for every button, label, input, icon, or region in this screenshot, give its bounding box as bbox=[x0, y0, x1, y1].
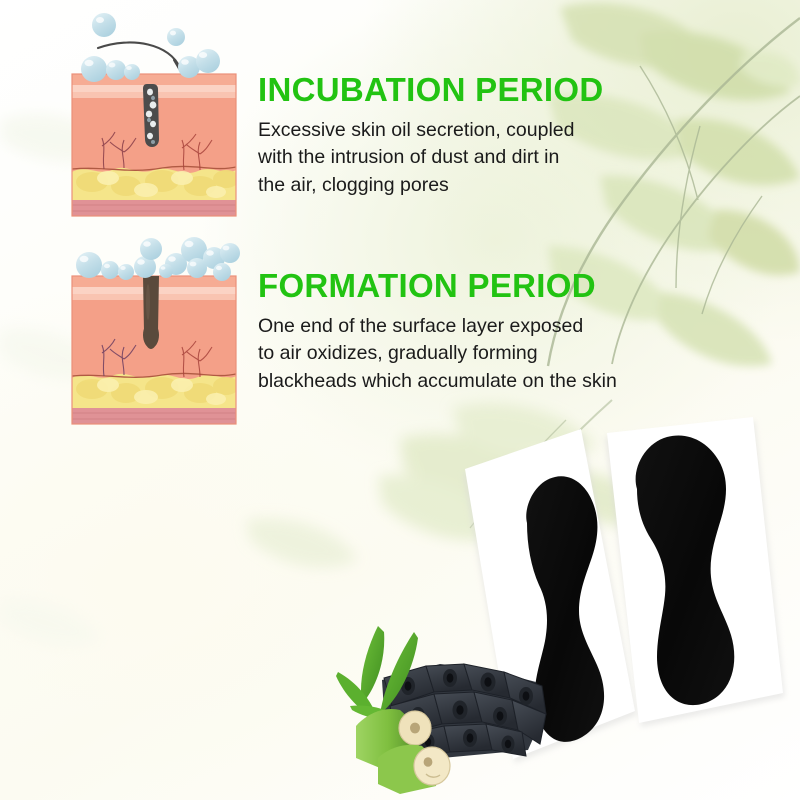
heading-formation: FORMATION PERIOD bbox=[258, 268, 698, 304]
body-incubation: Excessive skin oil secretion, coupled wi… bbox=[258, 117, 678, 200]
skin-diagram-incubation bbox=[58, 6, 248, 221]
body-line: with the intrusion of dust and dirt in bbox=[258, 144, 678, 172]
clogged-pore-1 bbox=[143, 84, 159, 147]
body-line: blackheads which accumulate on the skin bbox=[258, 368, 698, 396]
section-formation-text: FORMATION PERIOD One end of the surface … bbox=[258, 268, 698, 396]
bamboo-charcoal-ingredient-photo bbox=[322, 618, 567, 803]
infographic-canvas: INCUBATION PERIOD Excessive skin oil sec… bbox=[0, 0, 800, 800]
body-formation: One end of the surface layer exposed to … bbox=[258, 313, 698, 396]
body-line: the air, clogging pores bbox=[258, 172, 678, 200]
bubbles-2 bbox=[76, 237, 240, 281]
body-line: Excessive skin oil secretion, coupled bbox=[258, 117, 678, 145]
blackhead-plug bbox=[143, 276, 159, 349]
body-line: to air oxidizes, gradually forming bbox=[258, 340, 698, 368]
section-incubation-text: INCUBATION PERIOD Excessive skin oil sec… bbox=[258, 72, 678, 200]
body-line: One end of the surface layer exposed bbox=[258, 313, 698, 341]
heading-incubation: INCUBATION PERIOD bbox=[258, 72, 678, 108]
skin-diagram-formation bbox=[58, 232, 248, 432]
